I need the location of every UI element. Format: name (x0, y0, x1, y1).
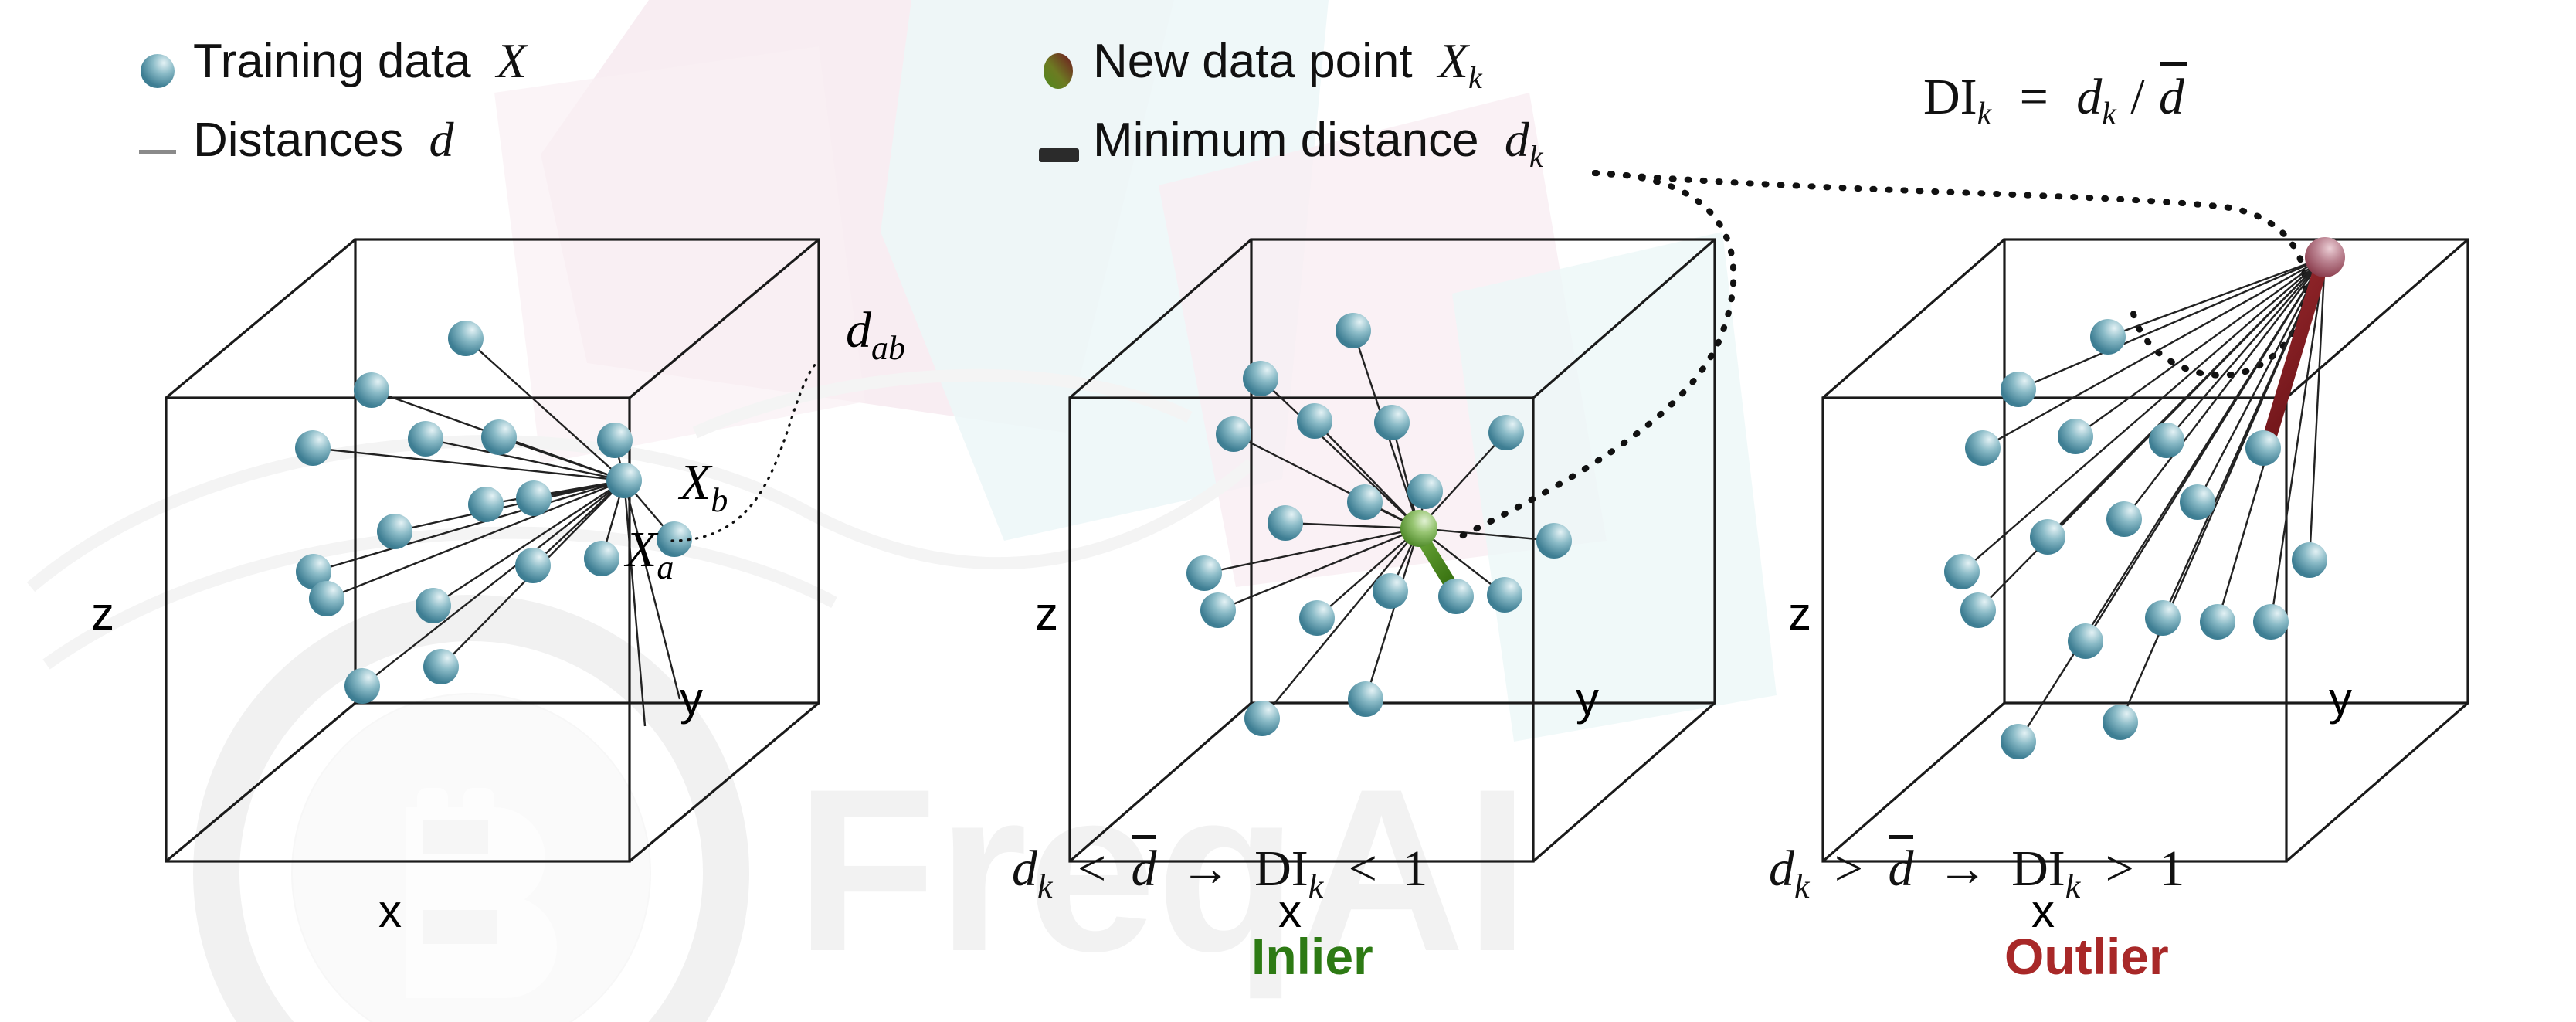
outlier-dk-sub: k (1794, 868, 1810, 905)
verdict-outlier: Outlier (2004, 927, 2169, 986)
legend-label-training: Training data (193, 35, 471, 88)
inlier-dbar-overbar (1132, 835, 1156, 839)
legend-item-minimum-distance: Minimum distance dk (1093, 111, 1543, 175)
training-points-outlier-panel (1944, 319, 2327, 759)
verdict-inlier: Inlier (1251, 927, 1373, 986)
legend-item-training-data: Training data X (193, 32, 527, 90)
outlier-dk: d (1769, 840, 1794, 897)
axis-label-x-training: x (378, 884, 402, 938)
legend-symbol-Xk-sub: k (1468, 60, 1482, 95)
outlier-relation: > (1834, 840, 1863, 897)
watermark-logo (216, 618, 726, 1022)
formula-DI-slash: / (2130, 69, 2144, 125)
outlier-panel (1823, 237, 2468, 861)
formula-DI-den: d (2159, 69, 2184, 125)
label-Xb: Xb (680, 452, 728, 520)
formula-DI-num-sub: k (2102, 97, 2116, 132)
formula-DI-lhs: DI (1923, 69, 1977, 125)
label-Xa-sub: a (657, 548, 674, 586)
formula-DI-num: d (2076, 69, 2102, 125)
inlier-one: 1 (1402, 840, 1427, 897)
cube-frame-outlier (1823, 239, 2468, 861)
legend-item-distances: Distances d (193, 111, 453, 168)
inlier-arrow-icon: → (1180, 839, 1231, 896)
axis-label-y-training: y (680, 672, 703, 725)
distance-lines-outlier (1962, 257, 2325, 742)
inlier-dbar: d (1131, 840, 1156, 897)
label-dab: dab (846, 300, 905, 368)
outlier-one: 1 (2159, 840, 2184, 897)
caption-formula-outlier: dk > d → DIk > 1 (1769, 838, 2184, 906)
new-data-point-outlier (2305, 237, 2345, 277)
legend-symbol-dk: d (1505, 112, 1529, 167)
outlier-DI-sub: k (2065, 868, 2081, 905)
legend-dash-icon-distances (139, 150, 176, 154)
inlier-dk-sub: k (1037, 868, 1053, 905)
legend-symbol-dk-sub: k (1529, 139, 1543, 174)
label-Xb-symbol: X (680, 454, 711, 511)
legend-label-distances: Distances (193, 114, 403, 167)
axis-label-z-inlier: z (1035, 587, 1058, 640)
legend-dash-icon-min-distance (1039, 148, 1079, 162)
inlier-relation: < (1078, 840, 1106, 897)
inlier-dk: d (1012, 840, 1037, 897)
legend-label-min-distance: Minimum distance (1093, 114, 1479, 167)
inlier-relation-2: < (1349, 840, 1377, 897)
legend-symbol-d: d (429, 112, 453, 167)
axis-label-z-outlier: z (1788, 587, 1811, 640)
formula-DI-equals: = (2020, 69, 2048, 125)
inlier-DI-sub: k (1308, 868, 1324, 905)
label-Xb-sub: b (711, 481, 728, 519)
legend-label-new-point: New data point (1093, 35, 1413, 88)
formula-DI-den-overbar (2160, 62, 2187, 66)
label-dab-symbol: d (846, 302, 871, 358)
inlier-DI: DI (1254, 840, 1308, 897)
outlier-relation-2: > (2106, 840, 2134, 897)
axis-label-z-training: z (91, 587, 114, 640)
formula-DI-definition: DIk = dk / d (1923, 66, 2184, 133)
outlier-DI: DI (2011, 840, 2065, 897)
legend-left (139, 54, 176, 154)
legend-symbol-X: X (497, 33, 527, 88)
outlier-dbar: d (1888, 840, 1913, 897)
figure-canvas: FreqAI (0, 0, 2576, 1022)
label-Xa-symbol: X (626, 521, 657, 578)
new-data-point-inlier (1400, 510, 1437, 547)
legend-symbol-Xk: X (1438, 33, 1468, 88)
label-dab-sub: ab (871, 329, 905, 367)
formula-DI-lhs-sub: k (1977, 97, 1992, 132)
anchor-point-Xa (606, 463, 642, 498)
axis-label-y-outlier: y (2329, 672, 2352, 725)
label-Xa: Xa (626, 519, 674, 587)
caption-formula-inlier: dk < d → DIk < 1 (1012, 838, 1427, 906)
outlier-arrow-icon: → (1937, 839, 1988, 896)
legend-sphere-icon-new-point (1044, 53, 1073, 89)
legend-item-new-data-point: New data point Xk (1093, 32, 1482, 96)
axis-label-y-inlier: y (1576, 672, 1599, 725)
legend-sphere-icon-training (141, 54, 175, 88)
outlier-dbar-overbar (1889, 835, 1913, 839)
